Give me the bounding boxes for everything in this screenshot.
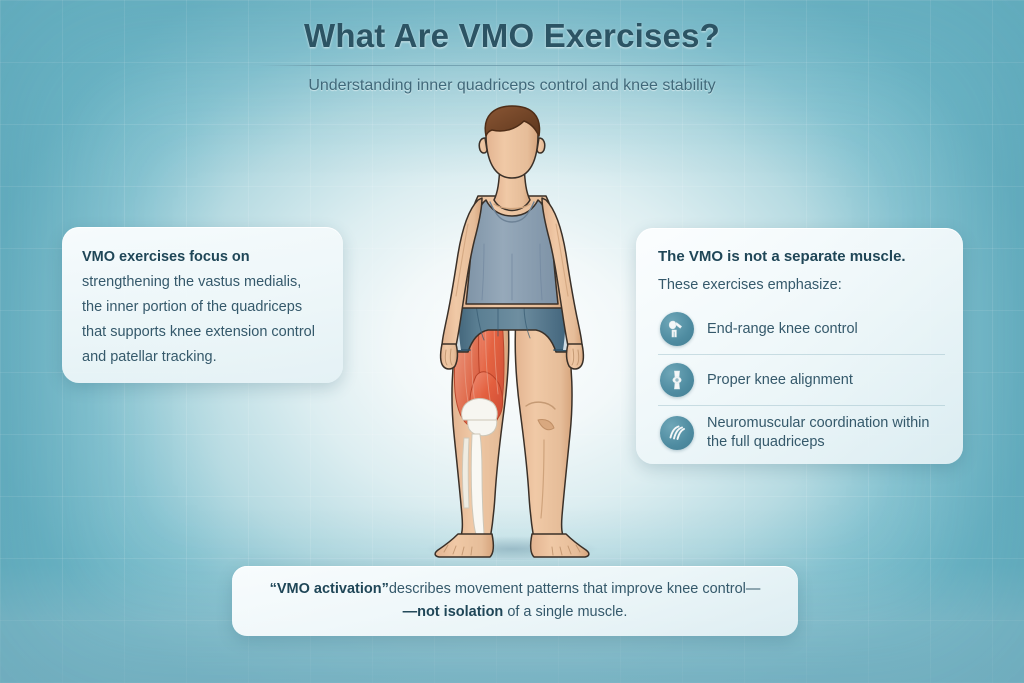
knee-alignment-icon	[660, 363, 694, 397]
fibula-bone	[463, 438, 470, 508]
anatomy-figure	[398, 104, 626, 560]
left-foot	[435, 534, 493, 557]
right-foot	[531, 534, 589, 557]
right-card-subhead: These exercises emphasize:	[658, 275, 945, 295]
right-info-card: The VMO is not a separate muscle. These …	[636, 228, 963, 464]
banner-quote: “VMO activation”	[270, 581, 389, 597]
right-card-lead: The VMO is not a separate muscle.	[658, 246, 945, 268]
infographic-canvas: What Are VMO Exercises? Understanding in…	[0, 0, 1024, 683]
list-item[interactable]: End-range knee control	[658, 304, 945, 354]
list-item[interactable]: Neuromuscular coordination within the fu…	[658, 405, 945, 460]
banner-line-2: —not isolation of a single muscle.	[403, 601, 628, 624]
ear-right	[537, 138, 545, 153]
left-info-card: VMO exercises focus on strengthening the…	[62, 227, 343, 383]
left-card-text: VMO exercises focus on strengthening the…	[82, 245, 323, 370]
emphasis-list: End-range knee control Proper knee align…	[658, 304, 945, 460]
list-item-label: Neuromuscular coordination within the fu…	[707, 414, 945, 452]
muscle-fibers-icon	[660, 416, 694, 450]
header: What Are VMO Exercises? Understanding in…	[0, 18, 1024, 95]
ear-left	[479, 138, 487, 153]
title-divider	[258, 65, 766, 66]
left-card-body: strengthening the vastus medialis, the i…	[82, 274, 315, 365]
left-hand	[441, 344, 458, 369]
banner-line-1: “VMO activation”describes movement patte…	[270, 578, 761, 601]
list-item-label: Proper knee alignment	[707, 371, 853, 390]
bottom-banner: “VMO activation”describes movement patte…	[232, 566, 798, 636]
banner-line-1-rest: describes movement patterns that improve…	[389, 581, 761, 597]
left-card-lead: VMO exercises focus on	[82, 249, 250, 265]
list-item[interactable]: Proper knee alignment	[658, 354, 945, 405]
list-item-label: End-range knee control	[707, 320, 858, 339]
banner-line-2-lead: —not isolation	[403, 604, 504, 620]
banner-line-2-rest: of a single muscle.	[507, 604, 627, 620]
knee-joint-icon	[660, 312, 694, 346]
page-subtitle: Understanding inner quadriceps control a…	[0, 77, 1024, 95]
page-title: What Are VMO Exercises?	[0, 18, 1024, 54]
right-hand	[567, 344, 584, 369]
shorts	[451, 302, 573, 352]
